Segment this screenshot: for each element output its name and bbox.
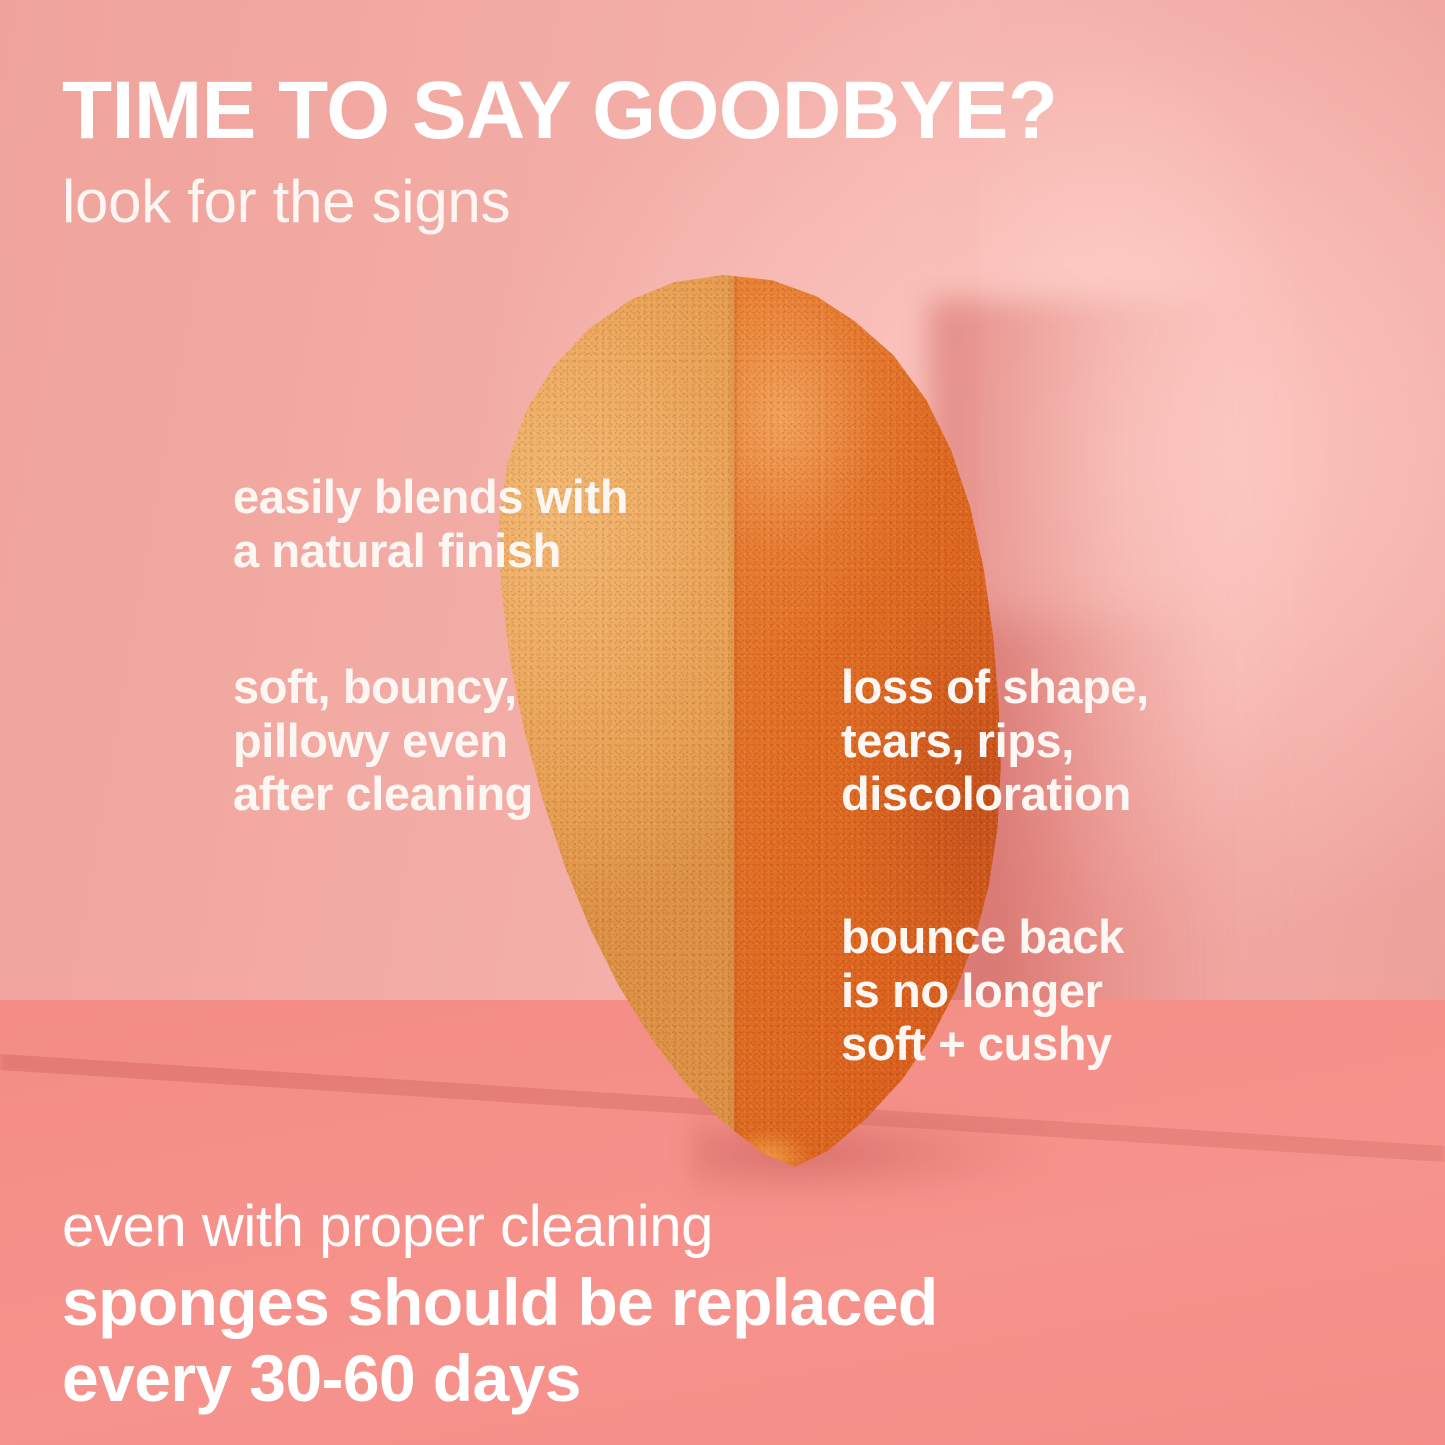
sponge-tip-highlight — [707, 1060, 828, 1167]
callout-bounce-back: bounce back is no longer soft + cushy — [841, 910, 1124, 1071]
callout-soft-bouncy: soft, bouncy, pillowy even after cleanin… — [233, 660, 533, 821]
footer-line-1: even with proper cleaning — [62, 1198, 938, 1256]
footer-line-2: sponges should be replaced — [62, 1269, 938, 1335]
callout-loss-of-shape: loss of shape, tears, rips, discoloratio… — [841, 660, 1149, 821]
footer-line-3: every 30-60 days — [62, 1345, 938, 1411]
poster-canvas: TIME TO SAY GOODBYE? look for the signs … — [0, 0, 1445, 1445]
footer-message: even with proper cleaning sponges should… — [62, 1198, 938, 1411]
page-title: TIME TO SAY GOODBYE? — [62, 70, 1057, 152]
page-subtitle: look for the signs — [62, 172, 510, 232]
callout-easily-blends: easily blends with a natural finish — [233, 470, 628, 577]
